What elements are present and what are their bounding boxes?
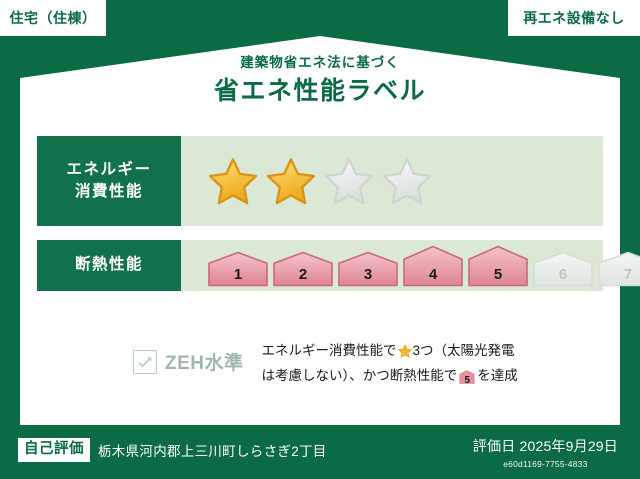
zeh-mark: ZEH水準 [133,348,244,375]
energy-performance-row: エネルギー 消費性能 [37,136,603,226]
insulation-level-7: 7 [597,251,640,287]
star-empty-icon [381,156,433,206]
renewable-energy-tag-label: 再エネ設備なし [523,11,625,25]
insulation-level-meter: 1234567 [207,245,640,287]
insulation-level-1: 1 [207,251,269,287]
insulation-level-5: 5 [467,245,529,287]
energy-label-line1: エネルギー [66,159,151,181]
zeh-desc-part3: を達成 [477,368,518,383]
energy-performance-value-cell [181,136,603,226]
zeh-description: エネルギー消費性能で3つ（太陽光発電 は考慮しない）、かつ断熱性能で5を達成 [262,340,534,391]
building-type-tag-label: 住宅（住棟） [10,11,97,25]
footer-left-group: 自己評価 栃木県河内郡上三川町しらさぎ2丁目 [18,438,327,462]
insulation-level-2: 2 [272,251,334,287]
zeh-desc-part2: は考慮しない）、かつ断熱性能で [262,368,458,383]
zeh-desc-star-count: 3つ（太陽光発電 [413,343,515,358]
star-empty-icon [323,156,375,206]
footer-right-group: 評価日 2025年9月29日 e60d1169-7755-4833 [473,436,618,469]
self-evaluation-badge: 自己評価 [18,438,90,462]
zeh-check-icon [133,350,157,374]
title-heading: 省エネ性能ラベル [0,78,640,106]
building-type-tag: 住宅（住棟） [0,0,106,36]
insulation-level-6: 6 [532,251,594,287]
evaluation-id: e60d1169-7755-4833 [473,459,618,469]
insulation-level-4: 4 [402,245,464,287]
inline-star-icon [398,346,412,361]
star-filled-icon [265,156,317,206]
zeh-standard-block: ZEH水準 エネルギー消費性能で3つ（太陽光発電 は考慮しない）、かつ断熱性能で… [133,340,534,391]
insulation-performance-row: 断熱性能 1234567 [37,240,603,291]
page-title: 建築物省エネ法に基づく 省エネ性能ラベル [0,56,640,105]
renewable-energy-tag: 再エネ設備なし [508,0,640,36]
zeh-mark-label: ZEH水準 [165,348,244,375]
zeh-desc-part1: エネルギー消費性能で [262,343,397,358]
title-subtitle: 建築物省エネ法に基づく [0,56,640,71]
insulation-performance-value-cell: 1234567 [181,240,640,291]
inline-house-badge: 5 [459,369,475,391]
insulation-level-3: 3 [337,251,399,287]
insulation-performance-label-cell: 断熱性能 [37,240,181,291]
star-rating [207,156,433,206]
energy-performance-label: 住宅（住棟） 再エネ設備なし 建築物省エネ法に基づく 省エネ性能ラベル エネルギ… [0,0,640,479]
property-address: 栃木県河内郡上三川町しらさぎ2丁目 [98,440,327,460]
energy-label-line2: 消費性能 [75,181,143,203]
evaluation-date: 評価日 2025年9月29日 [473,436,618,456]
insulation-label-line1: 断熱性能 [75,254,143,276]
energy-performance-label-cell: エネルギー 消費性能 [37,136,181,226]
star-filled-icon [207,156,259,206]
